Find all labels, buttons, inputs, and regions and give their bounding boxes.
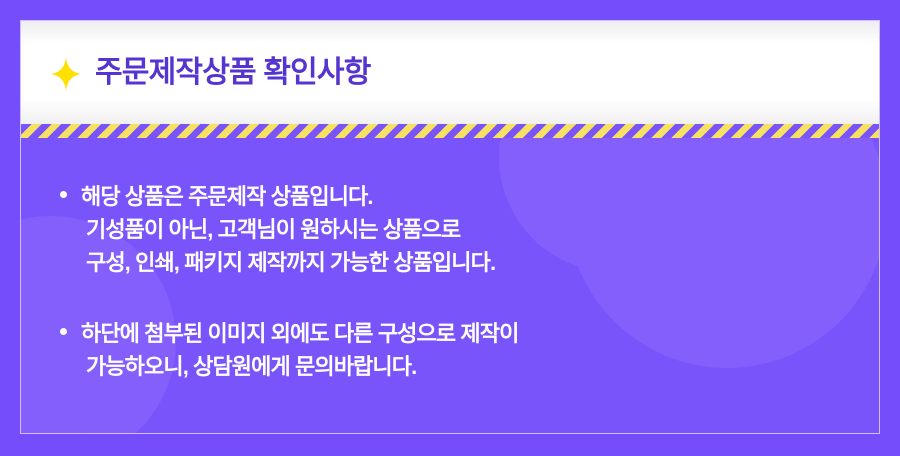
notice-card: 주문제작상품 확인사항 해당 상품은 주문제작 상품입니다. 기성품이 아닌, … (20, 20, 880, 434)
sparkle-icon (51, 57, 81, 91)
bullet-line: 하단에 첨부된 이미지 외에도 다른 구성으로 제작이 (81, 317, 879, 350)
card-header: 주문제작상품 확인사항 (21, 21, 879, 124)
page-title: 주문제작상품 확인사항 (95, 58, 371, 88)
bullet-line: 구성, 인쇄, 패키지 제작까지 가능한 상품입니다. (81, 246, 879, 279)
bullet-line: 해당 상품은 주문제작 상품입니다. (81, 180, 879, 213)
bullet-line: 가능하오니, 상담원에게 문의바랍니다. (81, 350, 879, 383)
bullet-dot-icon (60, 328, 67, 335)
card-body: 해당 상품은 주문제작 상품입니다. 기성품이 아닌, 고객님이 원하시는 상품… (21, 138, 879, 433)
caution-stripe-divider (21, 124, 879, 138)
bullet-dot-icon (60, 191, 67, 198)
bullet-item: 해당 상품은 주문제작 상품입니다. 기성품이 아닌, 고객님이 원하시는 상품… (57, 180, 879, 279)
bullet-item: 하단에 첨부된 이미지 외에도 다른 구성으로 제작이 가능하오니, 상담원에게… (57, 317, 879, 383)
bullet-line: 기성품이 아닌, 고객님이 원하시는 상품으로 (81, 213, 879, 246)
